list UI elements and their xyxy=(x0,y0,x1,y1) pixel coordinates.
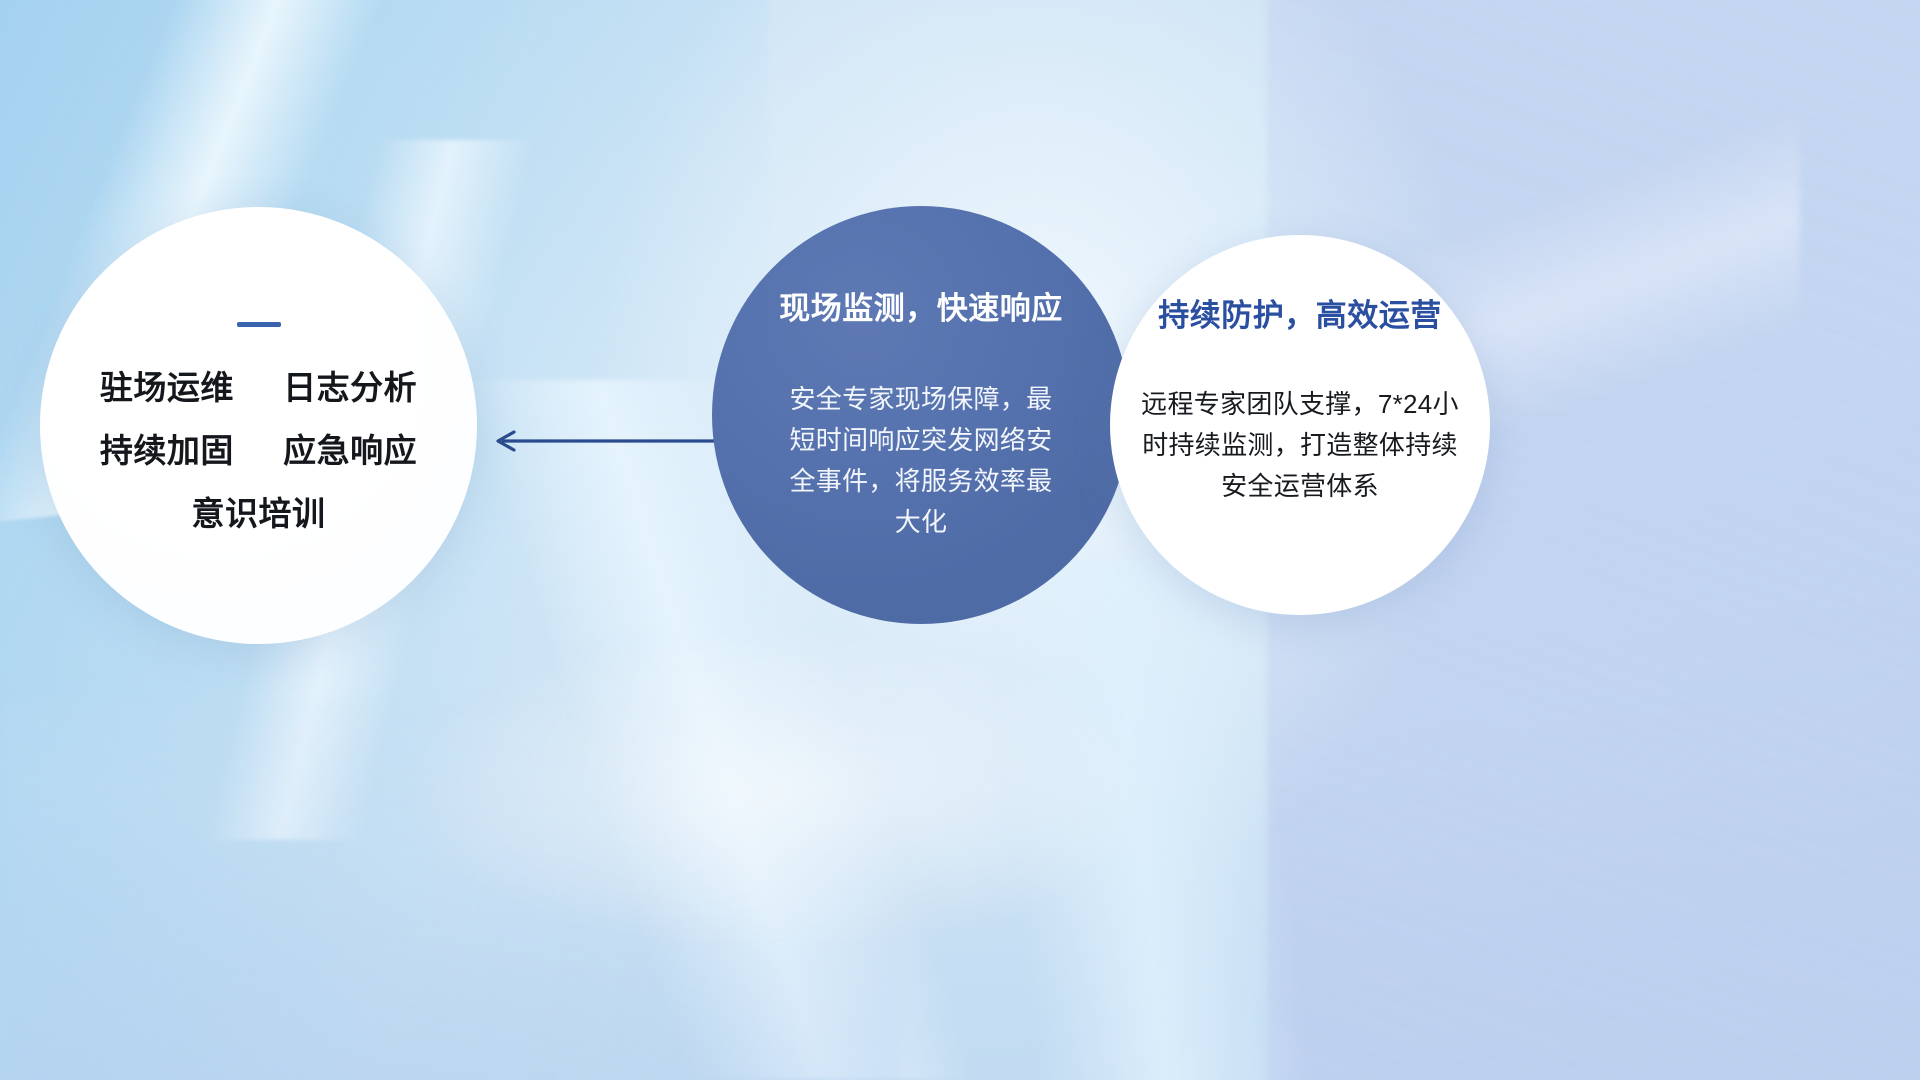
keyword-row: 驻场运维 日志分析 xyxy=(100,371,417,404)
keyword-row: 意识培训 xyxy=(192,497,326,530)
keyword-label: 持续加固 xyxy=(100,432,234,469)
right-circle-title: 持续防护，高效运营 xyxy=(1158,297,1442,334)
middle-circle-title: 现场监测，快速响应 xyxy=(779,290,1063,327)
keyword-row: 持续加固 应急响应 xyxy=(100,434,417,467)
keyword-label: 应急响应 xyxy=(283,432,417,469)
keyword-label: 意识培训 xyxy=(192,495,326,532)
keyword-label: 日志分析 xyxy=(283,369,417,406)
background-haze xyxy=(330,600,1230,980)
keyword-label: 驻场运维 xyxy=(100,369,234,406)
middle-circle-content: 现场监测，快速响应 安全专家现场保障，最短时间响应突发网络安全事件，将服务效率最… xyxy=(712,206,1130,624)
right-feature-circle[interactable]: 持续防护，高效运营 远程专家团队支撑，7*24小时持续监测，打造整体持续安全运营… xyxy=(1110,235,1490,615)
left-arrow-icon xyxy=(470,410,720,472)
middle-feature-circle[interactable]: 现场监测，快速响应 安全专家现场保障，最短时间响应突发网络安全事件，将服务效率最… xyxy=(712,206,1130,624)
right-circle-content: 持续防护，高效运营 远程专家团队支撑，7*24小时持续监测，打造整体持续安全运营… xyxy=(1110,235,1490,615)
left-circle-content: 驻场运维 日志分析 持续加固 应急响应 意识培训 xyxy=(40,207,477,644)
right-circle-body: 远程专家团队支撑，7*24小时持续监测，打造整体持续安全运营体系 xyxy=(1135,384,1465,507)
middle-circle-body: 安全专家现场保障，最短时间响应突发网络安全事件，将服务效率最大化 xyxy=(787,379,1055,543)
left-keyword-circle[interactable]: 驻场运维 日志分析 持续加固 应急响应 意识培训 xyxy=(40,207,477,644)
short-dash-divider-icon xyxy=(237,322,281,327)
